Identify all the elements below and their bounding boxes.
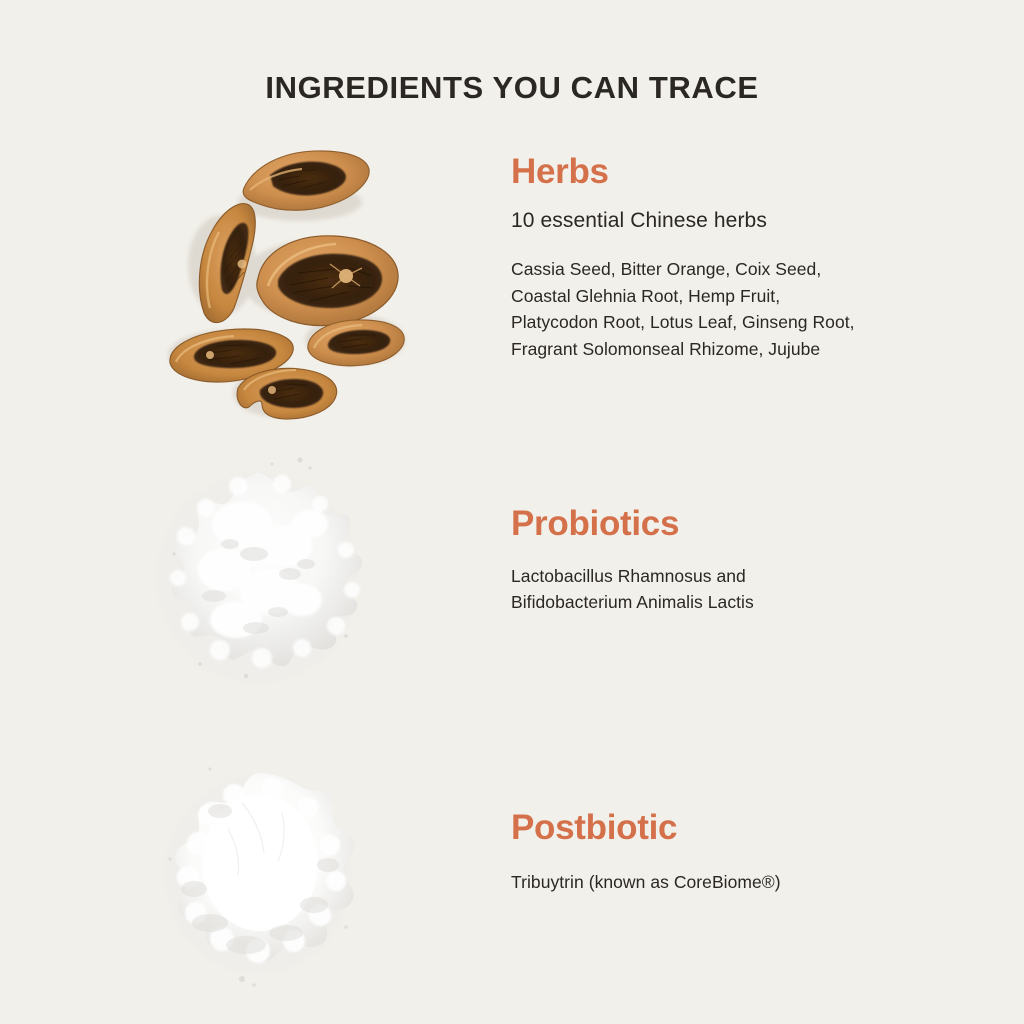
section-probiotics: Probiotics Lactobacillus Rhamnosus and B…: [0, 450, 1024, 720]
section-heading-postbiotic: Postbiotic: [511, 810, 961, 847]
section-postbiotic: Postbiotic Tribuytrin (known as CoreBiom…: [0, 755, 1024, 1000]
probiotic-powder-photo: [150, 450, 470, 720]
herbs-copy: Herbs 10 essential Chinese herbs Cassia …: [511, 154, 961, 362]
probiotic-powder-illustration: [150, 450, 470, 720]
section-body-postbiotic: Tribuytrin (known as CoreBiome®): [511, 869, 961, 896]
section-heading-probiotics: Probiotics: [511, 506, 961, 543]
probiotics-copy: Probiotics Lactobacillus Rhamnosus and B…: [511, 506, 961, 616]
section-herbs: Herbs 10 essential Chinese herbs Cassia …: [0, 140, 1024, 430]
ingredients-infographic: INGREDIENTS YOU CAN TRACE: [0, 0, 1024, 1024]
postbiotic-powder-photo: [150, 755, 470, 1000]
postbiotic-copy: Postbiotic Tribuytrin (known as CoreBiom…: [511, 810, 961, 895]
page-title: INGREDIENTS YOU CAN TRACE: [0, 71, 1024, 105]
section-heading-herbs: Herbs: [511, 154, 961, 191]
herb-slices-illustration: [150, 140, 470, 430]
section-body-herbs: Cassia Seed, Bitter Orange, Coix Seed, C…: [511, 256, 961, 362]
postbiotic-powder-illustration: [150, 755, 470, 1000]
dried-herb-slices-photo: [150, 140, 470, 430]
section-subhead-herbs: 10 essential Chinese herbs: [511, 207, 961, 234]
herb-piece-3: [257, 236, 398, 326]
section-body-probiotics: Lactobacillus Rhamnosus and Bifidobacter…: [511, 563, 961, 616]
